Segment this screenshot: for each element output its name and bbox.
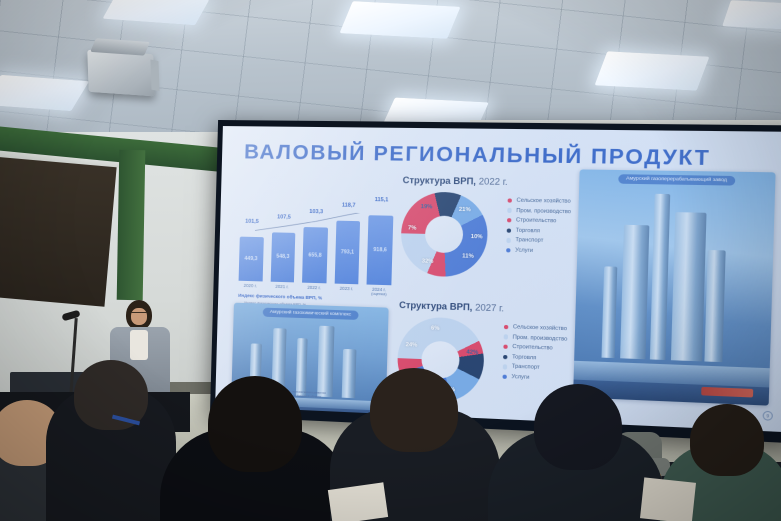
bar: 793,1 (334, 221, 360, 284)
legend-item: Пром. производство (504, 334, 568, 343)
legend-color-dot (503, 345, 508, 350)
donut-2022-title-year: 2022 г. (479, 176, 508, 187)
legend-label: Торговля (512, 354, 536, 361)
ceiling-light-panel (339, 1, 460, 39)
legend-color-dot (507, 208, 512, 213)
photo-right-caption: Амурский газоперерабатывающий завод (618, 174, 735, 185)
legend-label: Строительство (516, 217, 557, 224)
legend-color-dot (508, 198, 513, 203)
donut-2027-legend: Сельское хозяйствоПром. производствоСтро… (502, 324, 567, 386)
audience-head (534, 384, 622, 470)
audience-head (370, 368, 458, 452)
bar-value-label: 449,3 (244, 256, 257, 262)
donut-2022-title-bold: Структура ВРП, (403, 175, 477, 187)
page-title: ВАЛОВЫЙ РЕГИОНАЛЬНЫЙ ПРОДУКТ (244, 140, 711, 171)
bar-x-label: 2021 г. (270, 284, 294, 294)
bar-top-value: 103,3 (309, 209, 323, 215)
bar-value-label: 918,6 (373, 247, 387, 253)
bar: 918,6 (367, 215, 393, 285)
donut-slice-label: 21% (459, 206, 471, 212)
audience-head (690, 404, 764, 476)
screen-frame: ВАЛОВЫЙ РЕГИОНАЛЬНЫЙ ПРОДУКТ 101,5449,31… (210, 120, 781, 443)
bar-top-value: 118,7 (342, 203, 356, 209)
plant-illustration (573, 169, 776, 405)
legend-item: Транспорт (506, 237, 570, 245)
legend-color-dot (502, 374, 507, 379)
bar-x-label: 2022 г. (302, 285, 326, 295)
presentation-slide: ВАЛОВЫЙ РЕГИОНАЛЬНЫЙ ПРОДУКТ 101,5449,31… (215, 126, 781, 432)
bar-x-label: 2020 г. (238, 283, 262, 293)
legend-color-dot (506, 248, 511, 253)
legend-color-dot (507, 218, 512, 223)
bar: 548,3 (270, 232, 295, 282)
projection-screen: ВАЛОВЫЙ РЕГИОНАЛЬНЫЙ ПРОДУКТ 101,5449,31… (210, 120, 781, 443)
donut-2022-legend: Сельское хозяйствоПром. производствоСтро… (506, 197, 571, 258)
donut-chart-2022: Структура ВРП, 2022 г. 21%10%11%32%7%19%… (400, 175, 606, 296)
bar-top-value: 101,5 (245, 218, 259, 224)
green-wall-column (117, 150, 146, 300)
legend-item: Строительство (503, 344, 567, 353)
legend-label: Транспорт (515, 237, 543, 244)
presenter-glasses (131, 312, 147, 316)
legend-item: Услуги (502, 374, 566, 383)
bar-chart: 101,5449,3107,5548,3103,3655,8118,7793,1… (234, 188, 400, 312)
bar-top-value: 107,5 (277, 214, 291, 220)
legend-item: Транспорт (503, 364, 567, 373)
bar-value-label: 655,8 (308, 252, 321, 258)
legend-color-dot (507, 228, 512, 233)
donut-slice-label: 19% (421, 204, 433, 210)
legend-item: Услуги (506, 247, 570, 255)
bar-value-label: 793,1 (341, 249, 355, 255)
bar-column: 103,3655,8 (302, 212, 328, 283)
legend-label: Сельское хозяйство (513, 324, 567, 332)
legend-label: Строительство (512, 344, 553, 352)
bar-column: 118,7793,1 (334, 213, 360, 285)
conference-room-scene: ВАЛОВЫЙ РЕГИОНАЛЬНЫЙ ПРОДУКТ 101,5449,31… (0, 0, 781, 521)
donut-2027-title-bold: Структура ВРП, (399, 300, 473, 313)
ceiling-light-panel (722, 0, 781, 30)
bar-chart-bars: 101,5449,3107,5548,3103,3655,8118,7793,1… (239, 211, 394, 286)
donut-slice-label: 24% (406, 342, 418, 349)
legend-label: Торговля (516, 227, 540, 234)
legend-color-dot (503, 355, 508, 360)
legend-color-dot (506, 238, 511, 243)
legend-item: Сельское хозяйство (504, 324, 568, 332)
donut-2027-title-year: 2027 г. (475, 302, 504, 313)
bar-x-label: 2023 г. (334, 286, 358, 296)
bar: 655,8 (302, 227, 328, 283)
legend-label: Услуги (511, 374, 529, 381)
audience-member (488, 430, 664, 521)
donut-2027-title: Структура ВРП, 2027 г. (399, 300, 602, 317)
bar-value-label: 548,3 (276, 254, 289, 260)
handout-paper (640, 477, 696, 521)
legend-label: Пром. производство (516, 208, 571, 215)
donut-2022-title: Структура ВРП, 2022 г. (403, 175, 606, 189)
bar-column: 115,1918,6 (367, 213, 393, 285)
donut-slice-label: 11% (462, 253, 474, 259)
ceiling-light-panel (595, 51, 710, 90)
bar-x-label: 2024 г.(оценка) (367, 287, 392, 297)
legend-color-dot (504, 325, 509, 330)
legend-color-dot (503, 364, 508, 369)
bar: 449,3 (239, 236, 264, 281)
donut-slice-label: 6% (431, 325, 440, 331)
legend-item: Строительство (507, 217, 571, 225)
window-dark (0, 146, 118, 307)
photo-gas-processing-plant: Амурский газоперерабатывающий завод (573, 169, 776, 405)
audience-member (160, 428, 350, 521)
slide-number: 9 (763, 411, 774, 421)
legend-item: Пром. производство (507, 207, 571, 215)
legend-label: Услуги (515, 247, 533, 254)
donut-2022-ring: 21%10%11%32%7%19% (400, 191, 489, 277)
presenter-blouse (130, 330, 148, 360)
audience-head (74, 360, 148, 430)
presenter-face (131, 308, 147, 325)
legend-label: Сельское хозяйство (517, 198, 571, 205)
donut-slice-label: 7% (408, 225, 417, 231)
bar-column: 107,5548,3 (270, 211, 296, 282)
legend-item: Торговля (503, 354, 567, 363)
legend-label: Транспорт (512, 364, 540, 371)
legend-color-dot (504, 335, 509, 340)
bar-column: 101,5449,3 (239, 211, 265, 282)
audience-member (46, 386, 176, 521)
donut-slice-label: 32% (422, 259, 434, 265)
ceiling-projector (87, 50, 154, 97)
donut-slice-label: 10% (471, 234, 483, 240)
legend-item: Торговля (507, 227, 571, 235)
audience-head (208, 376, 302, 472)
donut-slice-label: 42% (466, 350, 478, 357)
bar-top-value: 115,1 (375, 197, 389, 203)
legend-label: Пром. производство (513, 334, 568, 342)
handout-paper (328, 482, 388, 521)
legend-item: Сельское хозяйство (508, 197, 572, 204)
